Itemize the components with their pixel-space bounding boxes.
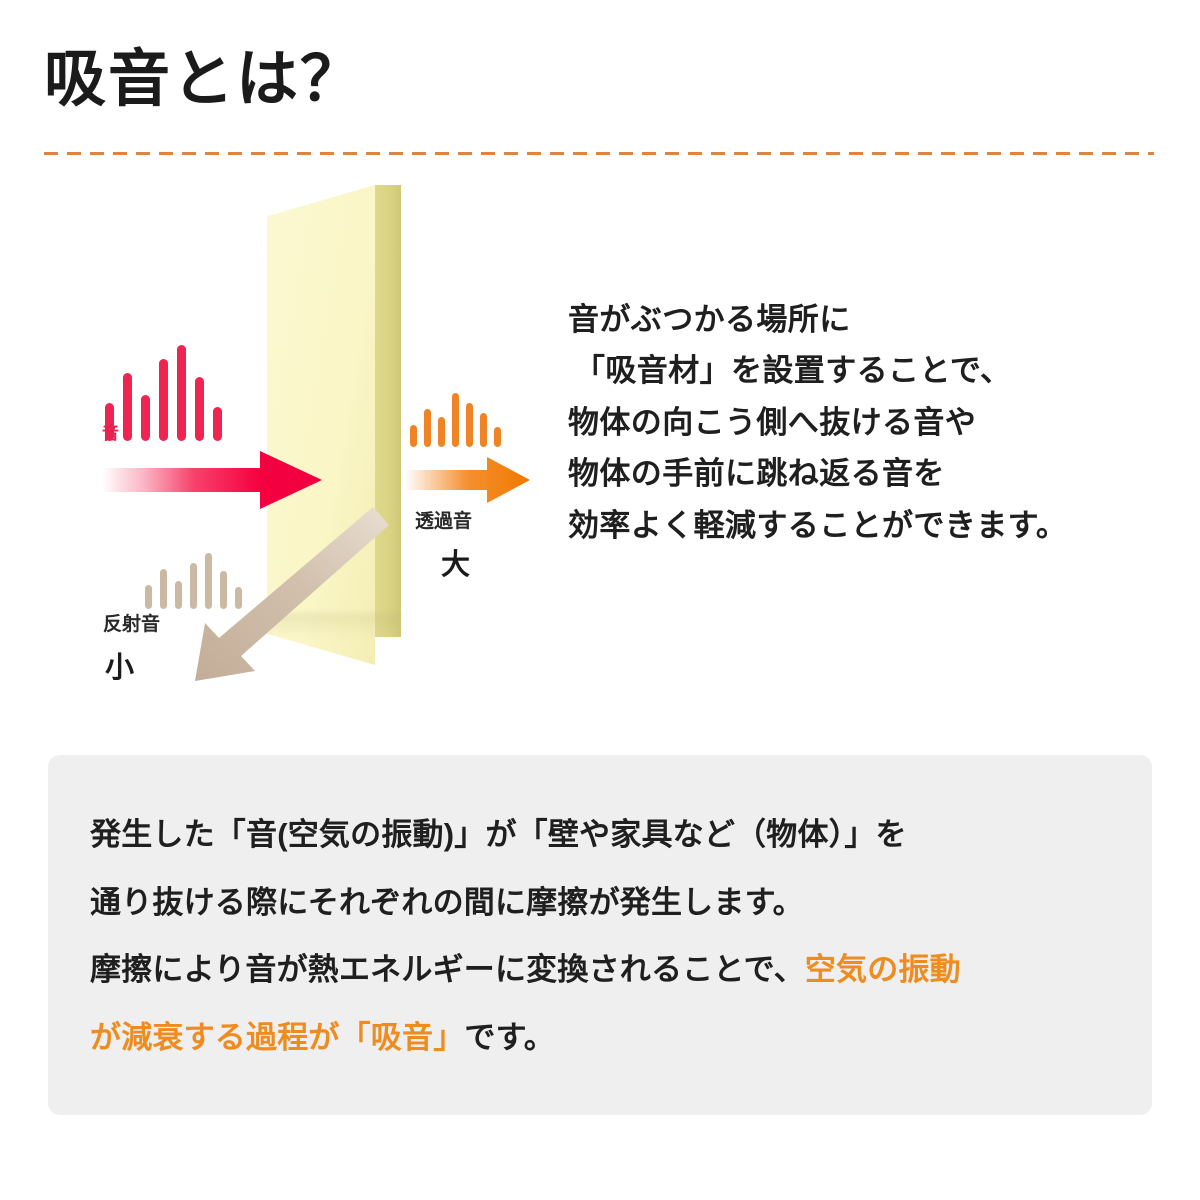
incident-sound-arrow-icon [102, 451, 322, 509]
title-divider [44, 152, 1154, 155]
page-root: 吸音とは？ 音 [0, 0, 1200, 1200]
explanation-text: 発生した「音(空気の振動)」が「壁や家具など（物体）」を 通り抜ける際にそれぞれ… [90, 801, 1122, 1071]
explanation-line-4-highlight: が減衰する過程が「吸音」 [90, 1020, 464, 1055]
lead-line-5: 効率よく軽減することができます。 [568, 500, 1168, 551]
transmitted-sound-magnitude: 大 [441, 550, 470, 582]
lead-line-3: 物体の向こう側へ抜ける音や [568, 397, 1168, 448]
transmitted-sound-arrow-icon [405, 457, 530, 503]
transmitted-sound-waveform [410, 393, 508, 447]
lead-line-4: 物体の手前に跳ね返る音を [568, 448, 1168, 499]
sound-absorption-diagram: 音 [60, 175, 550, 715]
explanation-line-4: が減衰する過程が「吸音」です。 [90, 1004, 1122, 1072]
explanation-line-4-plain: です。 [464, 1020, 555, 1055]
reflected-sound-arrow-icon [175, 505, 395, 685]
lead-line-1: 音がぶつかる場所に [568, 294, 1168, 345]
transmitted-sound-label: 透過音 [415, 512, 472, 533]
explanation-line-2: 通り抜ける際にそれぞれの間に摩擦が発生します。 [90, 869, 1122, 937]
explanation-line-1: 発生した「音(空気の振動)」が「壁や家具など（物体）」を [90, 801, 1122, 869]
lead-paragraph: 音がぶつかる場所に 「吸音材」を設置することで、 物体の向こう側へ抜ける音や 物… [568, 294, 1168, 551]
reflected-sound-magnitude: 小 [105, 653, 134, 685]
incident-sound-waveform [105, 345, 231, 441]
explanation-panel: 発生した「音(空気の振動)」が「壁や家具など（物体）」を 通り抜ける際にそれぞれ… [48, 755, 1152, 1115]
explanation-line-3-plain: 摩擦により音が熱エネルギーに変換されることで、 [90, 952, 805, 987]
incident-sound-label: 音 [102, 425, 119, 444]
lead-line-2: 「吸音材」を設置することで、 [568, 345, 1168, 396]
reflected-sound-label: 反射音 [103, 615, 160, 636]
explanation-line-3: 摩擦により音が熱エネルギーに変換されることで、空気の振動 [90, 936, 1122, 1004]
explanation-line-3-highlight: 空気の振動 [805, 952, 961, 987]
page-title: 吸音とは？ [44, 46, 364, 114]
